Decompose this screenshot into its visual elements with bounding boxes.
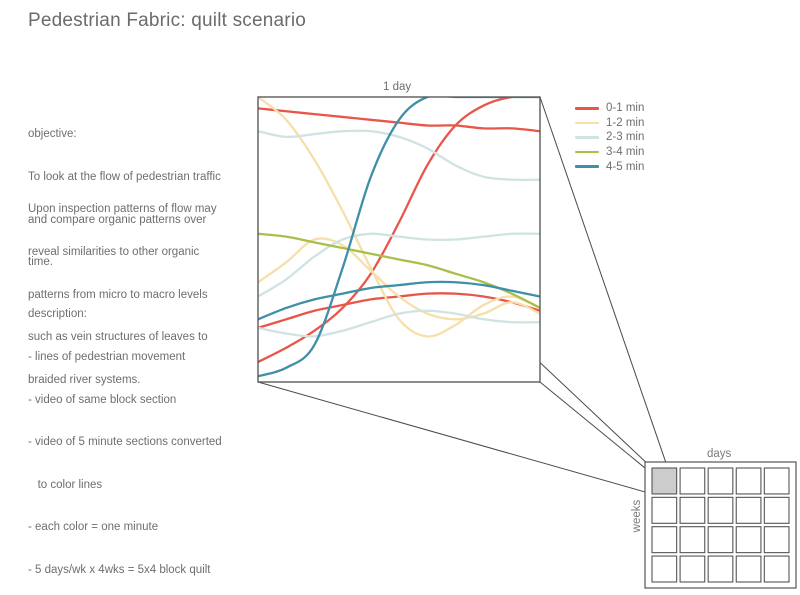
legend-item[interactable]: 4-5 min [575,159,644,174]
chart-caption: 1 day [383,81,411,93]
legend-swatch-icon [575,122,599,125]
quilt-cell[interactable] [736,497,761,523]
legend-label: 4-5 min [606,161,644,173]
legend-label: 2-3 min [606,131,644,143]
quilt-cell[interactable] [680,527,705,553]
quilt-cell[interactable] [680,497,705,523]
quilt-cell[interactable] [764,468,789,494]
quilt-cell[interactable] [680,468,705,494]
quilt-cell[interactable] [708,468,733,494]
quilt-cell-highlighted[interactable] [652,468,677,494]
legend-item[interactable]: 2-3 min [575,130,644,145]
legend-swatch-icon [575,151,599,154]
quilt-cell[interactable] [652,527,677,553]
quilt-grid [645,462,796,588]
quilt-cell[interactable] [736,556,761,582]
quilt-cell[interactable] [708,556,733,582]
quilt-cell[interactable] [736,527,761,553]
legend-label: 3-4 min [606,146,644,158]
quilt-cell[interactable] [652,497,677,523]
legend-item[interactable]: 0-1 min [575,101,644,116]
quilt-cell[interactable] [764,527,789,553]
legend-label: 0-1 min [606,102,644,114]
legend-item[interactable]: 3-4 min [575,145,644,160]
legend-label: 1-2 min [606,117,644,129]
quilt-weeks-label: weeks [631,491,643,541]
quilt-cell[interactable] [680,556,705,582]
chart-legend: 0-1 min1-2 min2-3 min3-4 min4-5 min [575,101,644,174]
quilt-cell[interactable] [708,497,733,523]
quilt-cell[interactable] [764,556,789,582]
legend-item[interactable]: 1-2 min [575,116,644,131]
quilt-cell[interactable] [764,497,789,523]
legend-swatch-icon [575,136,599,139]
chart-panel [258,95,540,382]
legend-swatch-icon [575,165,599,168]
quilt-cell[interactable] [736,468,761,494]
quilt-cell[interactable] [652,556,677,582]
quilt-days-label: days [707,448,731,460]
quilt-cell[interactable] [708,527,733,553]
legend-swatch-icon [575,107,599,110]
projection-line-bottom-left [258,382,652,494]
